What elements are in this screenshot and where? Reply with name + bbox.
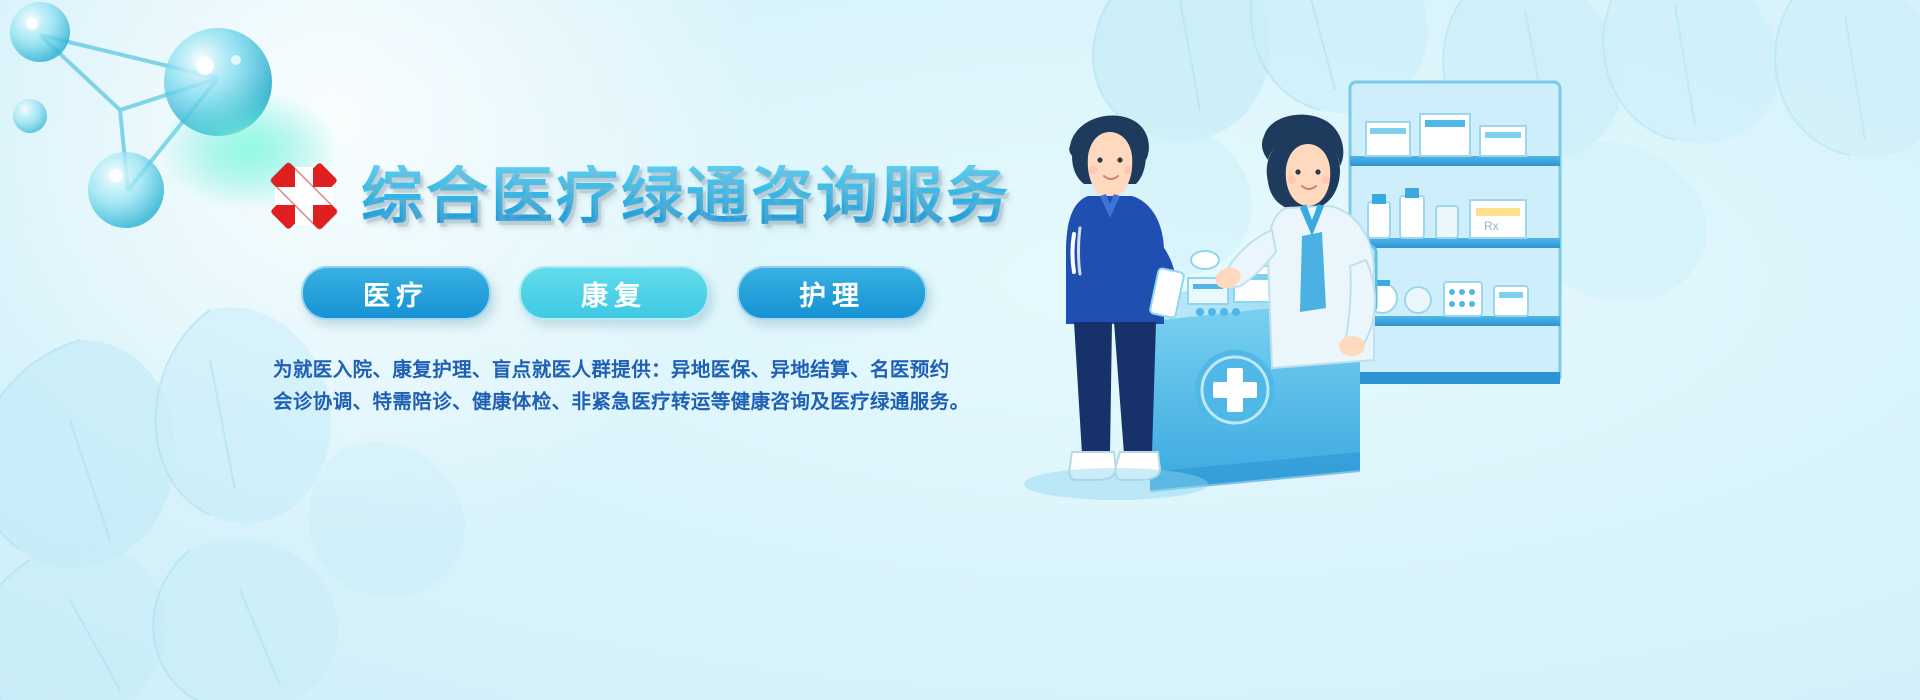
tag-nursing-label: 护理: [799, 274, 865, 313]
tag-medical-label: 医疗: [363, 274, 429, 313]
healthcare-banner: 综合医疗绿通咨询服务 医疗 康复 护理 为就医入院、康复护理、盲点就医人群提供：…: [0, 0, 1920, 700]
page-title: 综合医疗绿通咨询服务: [361, 165, 1011, 227]
tag-rehabilitation-label: 康复: [581, 274, 647, 313]
title-row: 综合医疗绿通咨询服务: [265, 150, 1025, 242]
description-line-1: 为就医入院、康复护理、盲点就医人群提供：异地医保、异地结算、名医预约: [273, 354, 1003, 386]
banner-content: 综合医疗绿通咨询服务 医疗 康复 护理 为就医入院、康复护理、盲点就医人群提供：…: [265, 150, 1025, 417]
pharmacy-scene-illustration: Rx: [1000, 60, 1640, 560]
tag-nursing[interactable]: 护理: [737, 266, 927, 320]
description-line-2: 会诊协调、特需陪诊、健康体检、非紧急医疗转运等健康咨询及医疗绿通服务。: [273, 386, 1003, 418]
banner-description: 为就医入院、康复护理、盲点就医人群提供：异地医保、异地结算、名医预约 会诊协调、…: [273, 354, 1003, 417]
svg-text:Rx: Rx: [1484, 219, 1499, 233]
tag-list: 医疗 康复 护理: [301, 266, 1025, 320]
tag-medical[interactable]: 医疗: [301, 266, 491, 320]
pharmacy-shelf: Rx: [1350, 82, 1560, 384]
tag-rehabilitation[interactable]: 康复: [519, 266, 709, 320]
counter-cross-icon: [1195, 350, 1275, 430]
medical-cross-icon: [265, 157, 343, 235]
